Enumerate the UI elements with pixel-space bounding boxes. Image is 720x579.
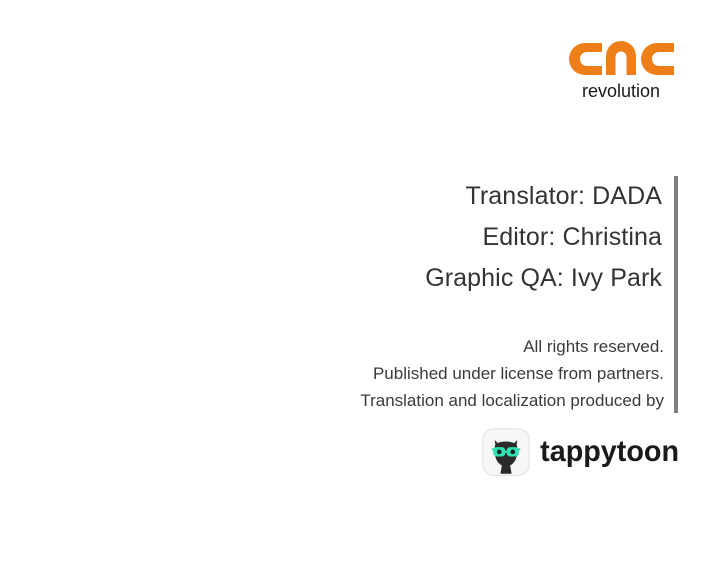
legal-line-rights: All rights reserved. (224, 333, 664, 360)
studio-wordmark-text: revolution (582, 81, 660, 101)
credits-page: revolution Translator: DADA Editor: Chri… (0, 0, 720, 579)
tappytoon-cat-icon (482, 428, 530, 476)
credit-line-editor: Editor: Christina (232, 217, 662, 258)
credits-block: Translator: DADA Editor: Christina Graph… (232, 176, 662, 299)
tappytoon-logo-lockup: tappytoon (482, 428, 682, 476)
legal-line-localization: Translation and localization produced by (224, 387, 664, 414)
credit-line-translator: Translator: DADA (232, 176, 662, 217)
tappytoon-wordmark-text: tappytoon (540, 435, 679, 468)
cnc-logo-mark-icon (566, 41, 676, 79)
cnc-logo-wordmark: revolution (566, 80, 676, 102)
legal-line-license: Published under license from partners. (224, 360, 664, 387)
vertical-divider (674, 176, 678, 413)
legal-block: All rights reserved. Published under lic… (224, 333, 664, 414)
credit-line-graphic-qa: Graphic QA: Ivy Park (232, 258, 662, 299)
studio-logo-cnc-revolution: revolution (566, 41, 676, 103)
tappytoon-wordmark: tappytoon (540, 435, 682, 469)
